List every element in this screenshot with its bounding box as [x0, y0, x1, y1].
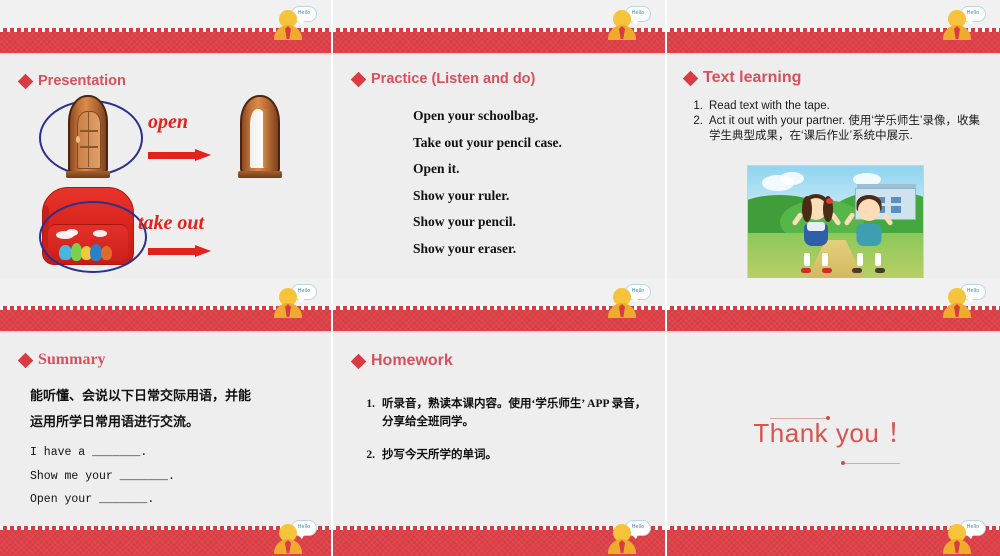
door-base [238, 171, 283, 178]
heading-label: Summary [38, 351, 106, 369]
decor-line-bottom [845, 463, 900, 464]
list-item: 1. 听录音，熟读本课内容。使用‘学乐师生’ APP 录音，分享给全班同学。 [363, 395, 647, 431]
text-learning-list: 1. Read text with the tape. 2. Act it ou… [689, 99, 988, 144]
band-dotted-edge [333, 28, 665, 32]
text-line: 能听懂、会说以下日常交际用语，并能 [30, 383, 317, 409]
thank-you-text: Thank you ！ [753, 418, 913, 448]
word-open: open [148, 111, 188, 134]
diamond-bullet-icon [683, 70, 699, 86]
band-dotted-edge [0, 306, 331, 310]
two-children-waving-image [747, 165, 924, 278]
list-number: 2. [363, 446, 375, 464]
door-knob-icon [76, 136, 80, 143]
slide-top-strip [333, 0, 665, 28]
slide-thank-you[interactable]: Hello Hello Thank you ！ [667, 278, 1000, 556]
door-center-stile [88, 111, 90, 167]
closed-door-image [68, 95, 108, 173]
slide-top-strip [667, 0, 1000, 28]
heading-label: Practice (Listen and do) [371, 71, 535, 87]
slide-heading-homework: Homework [353, 352, 453, 370]
heading-label: Homework [371, 352, 453, 370]
list-item: Show your pencil. [413, 209, 655, 236]
slide-thumbnail-grid: Hello Presentation open [0, 0, 1000, 556]
boy-figure [839, 191, 899, 274]
slide-body: Text learning 1. Read text with the tape… [667, 55, 1000, 278]
slide-heading-text-learning: Text learning [685, 69, 801, 87]
word-take-out: take out [138, 212, 204, 235]
band-dotted-edge [667, 28, 1000, 32]
text-line: Show me your _______. [30, 465, 317, 489]
band-dotted-edge [667, 306, 1000, 310]
summary-english-patterns: I have a _______. Show me your _______. … [30, 441, 317, 512]
heading-label: Text learning [703, 69, 801, 87]
slide-body: Summary 能听懂、会说以下日常交际用语，并能 运用所学日常用语进行交流。 … [0, 333, 331, 556]
text-line: Open your _______. [30, 488, 317, 512]
slide-body: Practice (Listen and do) Open your schoo… [333, 55, 665, 278]
slide-practice[interactable]: Hello Practice (Listen and do) Open your… [333, 0, 667, 278]
list-text: Read text with the tape. [709, 99, 830, 114]
door-base [66, 171, 111, 178]
text-line: I have a _______. [30, 441, 317, 465]
band-dotted-edge [333, 306, 665, 310]
slide-body: Presentation open [0, 55, 331, 278]
slide-body: Thank you ！ [667, 333, 1000, 556]
list-text: 听录音，熟读本课内容。使用‘学乐师生’ APP 录音，分享给全班同学。 [382, 395, 647, 431]
list-item: Show your eraser. [413, 236, 655, 263]
slide-top-strip [333, 278, 665, 306]
slide-text-learning[interactable]: Hello Text learning 1. Read text with th… [667, 0, 1000, 278]
list-number: 2. [689, 114, 703, 144]
homework-list: 1. 听录音，熟读本课内容。使用‘学乐师生’ APP 录音，分享给全班同学。 2… [363, 395, 647, 479]
list-item: Open it. [413, 156, 655, 183]
list-item: Open your schoolbag. [413, 103, 655, 130]
diamond-bullet-icon [351, 71, 367, 87]
list-item: Take out your pencil case. [413, 130, 655, 157]
slide-top-strip [0, 0, 331, 28]
summary-chinese-text: 能听懂、会说以下日常交际用语，并能 运用所学日常用语进行交流。 [30, 383, 317, 435]
list-text: 抄写今天所学的单词。 [382, 446, 497, 464]
slide-top-strip [0, 278, 331, 306]
diamond-bullet-icon [351, 353, 367, 369]
thank-you-block: Thank you ！ [667, 413, 1000, 450]
list-number: 1. [689, 99, 703, 114]
slide-body: Homework 1. 听录音，熟读本课内容。使用‘学乐师生’ APP 录音，分… [333, 333, 665, 556]
band-dotted-edge [0, 28, 331, 32]
list-text: Act it out with your partner. 使用‘学乐师生’录像… [709, 114, 988, 144]
list-item: 2. 抄写今天所学的单词。 [363, 446, 647, 464]
slide-top-strip [667, 278, 1000, 306]
list-item: 1. Read text with the tape. [689, 99, 988, 114]
slide-presentation[interactable]: Hello Presentation open [0, 0, 333, 278]
girl-figure [787, 191, 847, 274]
door-leaf [263, 109, 269, 168]
diamond-bullet-icon [18, 73, 34, 89]
slide-heading-practice: Practice (Listen and do) [353, 71, 535, 87]
list-item: 2. Act it out with your partner. 使用‘学乐师生… [689, 114, 988, 144]
heading-label: Presentation [38, 73, 126, 89]
arrow-right-icon [148, 149, 211, 161]
list-item: Show your ruler. [413, 183, 655, 210]
arrow-right-icon-2 [148, 245, 211, 257]
highlight-ellipse-bag [39, 201, 147, 273]
slide-summary[interactable]: Hello Hello Summary 能听懂、会说以下日常交际用语，并能 运用… [0, 278, 333, 556]
list-number: 1. [363, 395, 375, 431]
slide-heading-presentation: Presentation [20, 73, 126, 89]
practice-sentence-list: Open your schoolbag. Take out your penci… [413, 103, 655, 262]
slide-homework[interactable]: Hello Hello Homework 1. 听录音，熟读本课内容。使用‘学乐… [333, 278, 667, 556]
slide-heading-summary: Summary [20, 351, 106, 369]
text-line: 运用所学日常用语进行交流。 [30, 409, 317, 435]
diamond-bullet-icon [18, 352, 34, 368]
open-door-image [240, 95, 280, 173]
